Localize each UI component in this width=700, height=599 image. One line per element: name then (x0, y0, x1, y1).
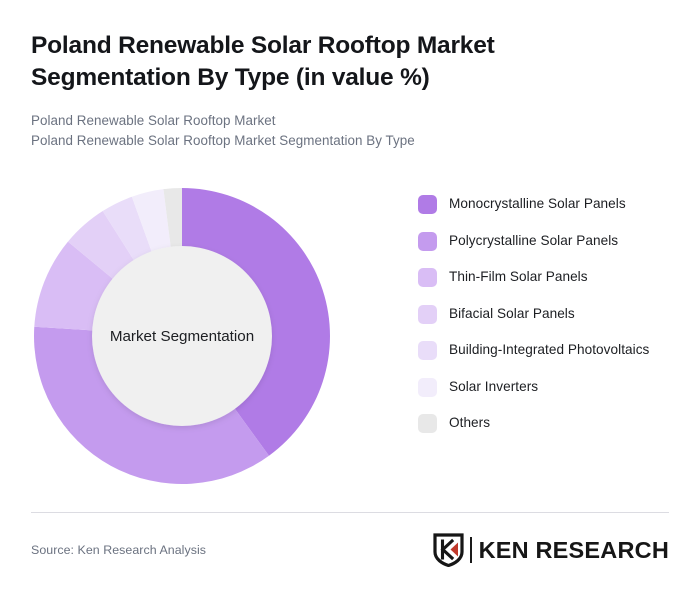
legend-item[interactable]: Solar Inverters (418, 377, 680, 397)
chart-card: Poland Renewable Solar Rooftop Market Se… (0, 0, 700, 599)
footer-divider (31, 512, 669, 513)
chart-header: Poland Renewable Solar Rooftop Market Se… (31, 30, 571, 150)
shield-logo-icon (433, 533, 464, 567)
legend-item[interactable]: Building-Integrated Photovoltaics (418, 340, 680, 360)
source-note: Source: Ken Research Analysis (31, 543, 206, 557)
legend-swatch-icon (418, 195, 437, 214)
legend-label: Monocrystalline Solar Panels (449, 194, 626, 213)
legend-item[interactable]: Polycrystalline Solar Panels (418, 231, 680, 251)
legend-swatch-icon (418, 414, 437, 433)
chart-legend: Monocrystalline Solar PanelsPolycrystall… (418, 194, 680, 450)
legend-item[interactable]: Thin-Film Solar Panels (418, 267, 680, 287)
logo-wordmark: KEN RESEARCH (479, 537, 669, 564)
legend-label: Building-Integrated Photovoltaics (449, 340, 649, 359)
legend-item[interactable]: Monocrystalline Solar Panels (418, 194, 680, 214)
donut-svg (32, 186, 332, 486)
subtitle-segmentation: Poland Renewable Solar Rooftop Market Se… (31, 131, 571, 151)
ken-research-logo: KEN RESEARCH (433, 531, 669, 569)
donut-chart: Market Segmentation (32, 186, 332, 486)
legend-swatch-icon (418, 232, 437, 251)
legend-swatch-icon (418, 305, 437, 324)
legend-label: Bifacial Solar Panels (449, 304, 575, 323)
subtitle-market: Poland Renewable Solar Rooftop Market (31, 111, 571, 131)
legend-label: Thin-Film Solar Panels (449, 267, 588, 286)
page-title: Poland Renewable Solar Rooftop Market Se… (31, 30, 571, 94)
legend-swatch-icon (418, 341, 437, 360)
legend-label: Solar Inverters (449, 377, 538, 396)
legend-label: Polycrystalline Solar Panels (449, 231, 618, 250)
legend-label: Others (449, 413, 490, 432)
chart-body: Market Segmentation Monocrystalline Sola… (0, 172, 700, 502)
legend-item[interactable]: Others (418, 413, 680, 433)
legend-item[interactable]: Bifacial Solar Panels (418, 304, 680, 324)
legend-swatch-icon (418, 268, 437, 287)
chart-footer: Source: Ken Research Analysis KEN RESEAR… (31, 528, 669, 570)
legend-swatch-icon (418, 378, 437, 397)
subtitle-group: Poland Renewable Solar Rooftop Market Po… (31, 111, 571, 151)
donut-hole (92, 246, 272, 426)
logo-divider (470, 537, 472, 563)
